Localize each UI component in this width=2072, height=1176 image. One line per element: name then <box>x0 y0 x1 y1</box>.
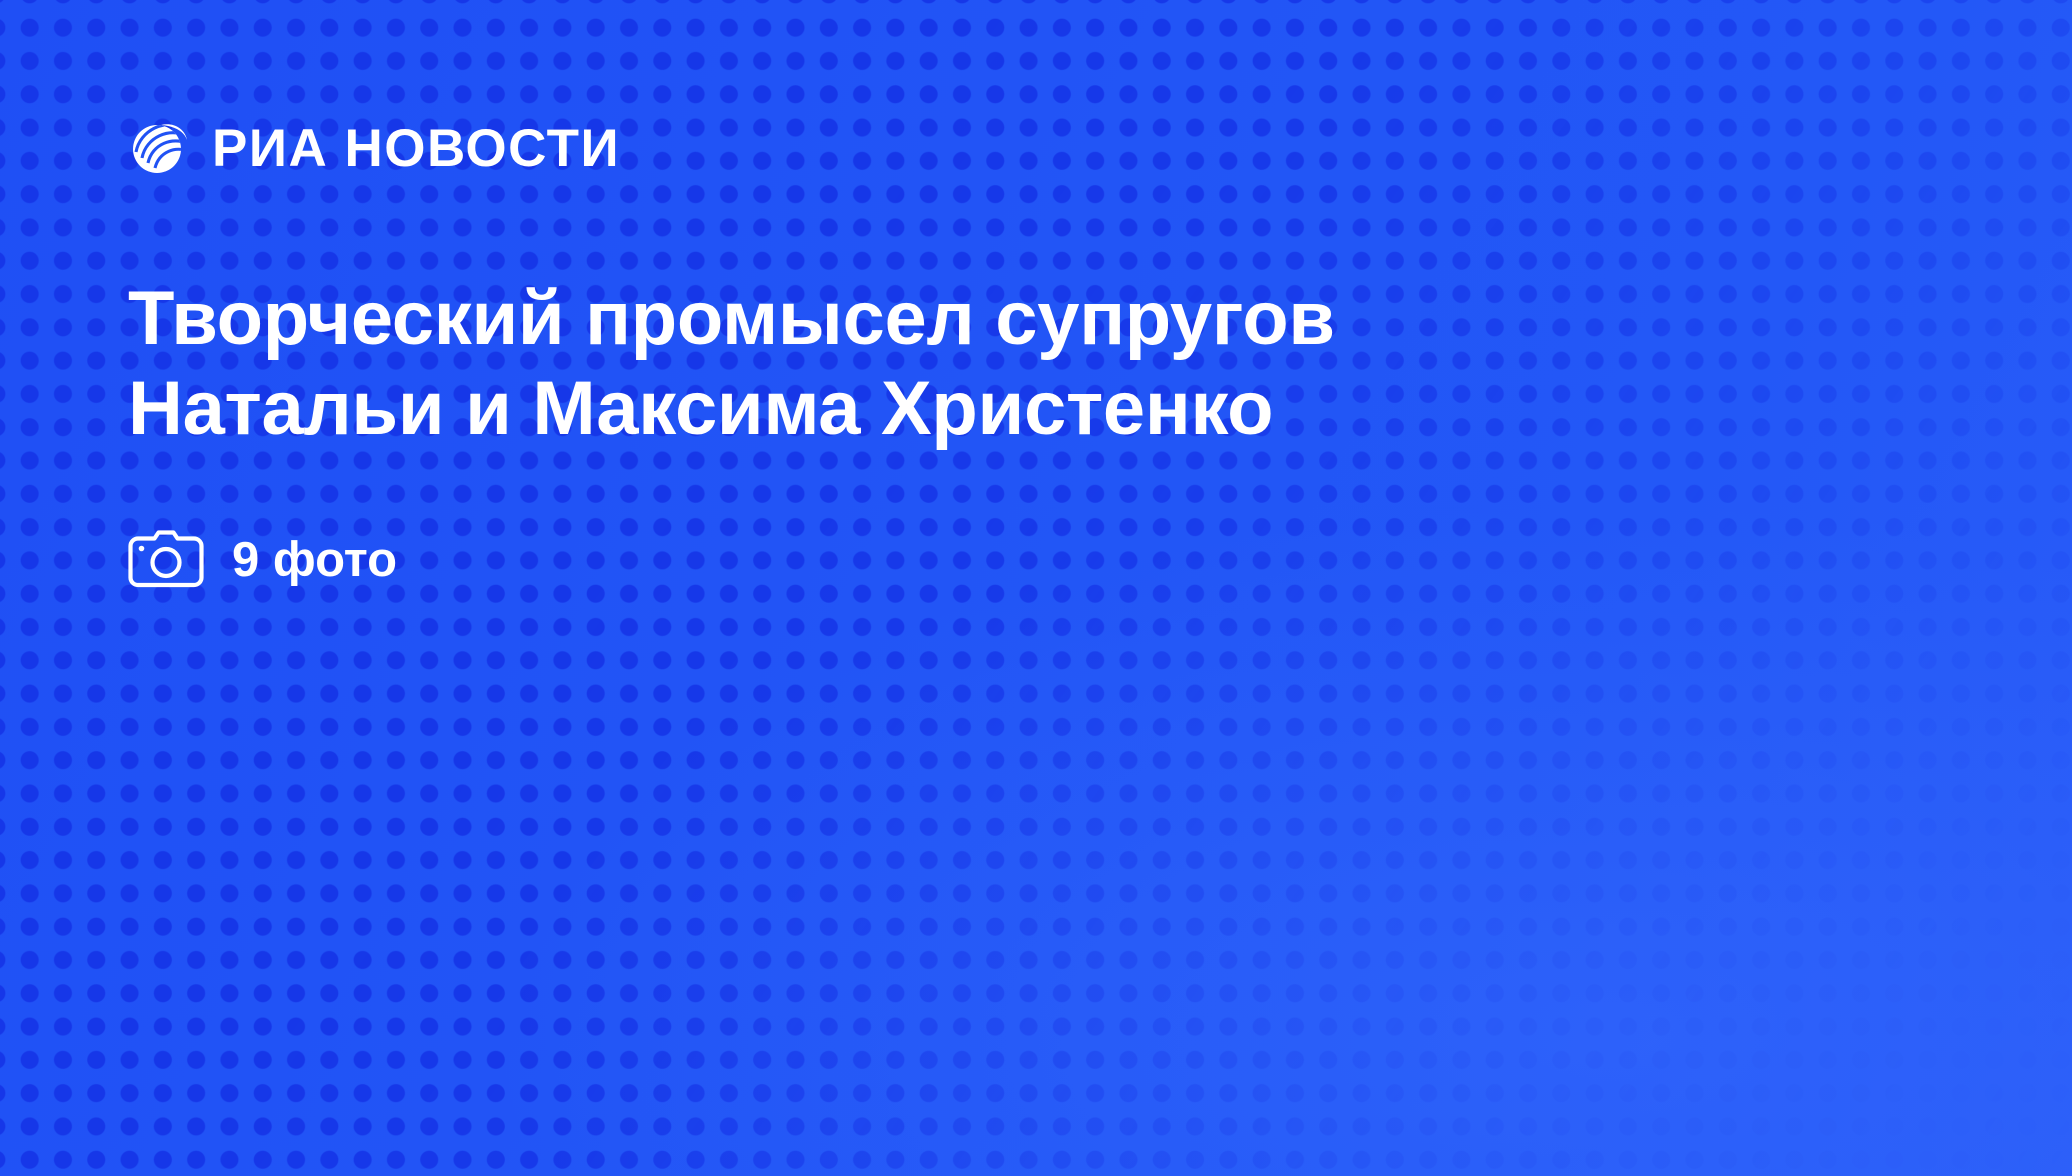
headline-line-1: Творческий промысел супругов <box>128 274 1688 364</box>
card-content: РИА НОВОСТИ Творческий промысел супругов… <box>128 116 1952 589</box>
headline-line-2: Натальи и Максима Христенко <box>128 364 1688 454</box>
camera-icon <box>128 529 204 589</box>
brand-wordmark: РИА НОВОСТИ <box>212 122 620 175</box>
page-title: Творческий промысел супругов Натальи и М… <box>128 274 1688 453</box>
photo-count-badge[interactable]: 9 фото <box>128 529 1952 589</box>
brand-lockup[interactable]: РИА НОВОСТИ <box>128 116 1952 178</box>
ria-sphere-logo-icon <box>128 116 190 178</box>
ria-novosti-photo-card: РИА НОВОСТИ Творческий промысел супругов… <box>0 0 2072 1176</box>
photo-count-label: 9 фото <box>232 536 397 585</box>
